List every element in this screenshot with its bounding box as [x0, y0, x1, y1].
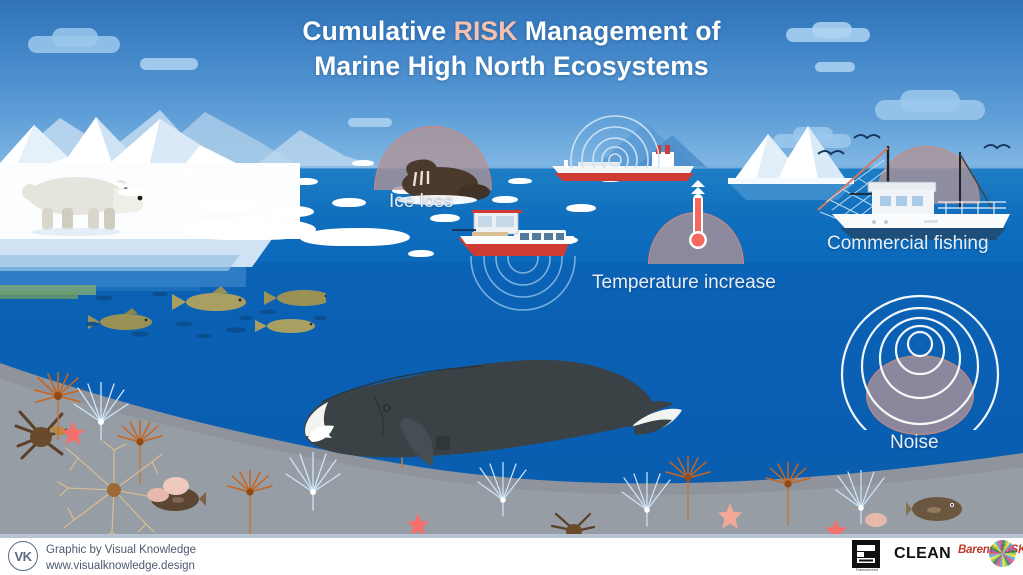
flatfish — [906, 492, 968, 526]
credit-line-2: www.visualknowledge.design — [46, 558, 196, 574]
ice-floe — [118, 188, 148, 196]
sponge — [864, 510, 888, 528]
sponge — [162, 474, 190, 496]
seabirds — [806, 126, 1023, 186]
ice-floe — [176, 168, 202, 174]
fram-centre-logo — [852, 540, 880, 568]
sea-pen — [470, 462, 536, 518]
cod-fish — [88, 308, 152, 330]
stressor-label-commercial-fishing: Commercial fishing — [827, 233, 989, 255]
cod-fish — [255, 319, 315, 333]
polar-bear — [18, 168, 153, 238]
barentsrisk-globe-icon — [989, 540, 1016, 567]
credit-line-1: Graphic by Visual Knowledge — [46, 542, 196, 558]
sea-pen — [614, 472, 680, 528]
visual-knowledge-logo: VK — [8, 541, 38, 571]
ice-floe — [352, 160, 374, 166]
stressor-label-temperature: Temperature increase — [592, 272, 776, 294]
ice-floe — [408, 250, 434, 257]
sea-lily — [222, 470, 278, 536]
sea-pen — [66, 382, 136, 442]
cod-fish — [264, 290, 326, 306]
footer-divider — [0, 534, 1023, 538]
fram-centre-caption: Framsenteret — [846, 568, 888, 572]
cod-school — [86, 284, 326, 344]
thermometer-icon — [678, 180, 718, 260]
sea-lily — [760, 462, 816, 528]
ice-floe — [300, 228, 410, 246]
credit-text: Graphic by Visual Knowledge www.visualkn… — [46, 542, 196, 575]
stressor-label-ice-loss: Ice loss — [389, 191, 453, 213]
ice-floe — [268, 206, 314, 217]
starfish — [716, 502, 744, 530]
clean-logo: CLEAN — [894, 545, 951, 563]
ice-floe — [508, 178, 532, 184]
infographic-poster: Cumulative RISK Management of Marine Hig… — [0, 0, 1023, 575]
ship-noise-waves — [570, 108, 660, 168]
ice-floe — [292, 178, 318, 185]
boat-noise-waves — [468, 256, 578, 316]
bowhead-whale — [282, 340, 682, 470]
cod-fish — [172, 286, 246, 311]
starfish — [406, 512, 430, 536]
ice-floe — [196, 198, 258, 212]
ice-floe — [332, 198, 366, 207]
ice-floe — [184, 218, 316, 240]
footer-bar: VK Graphic by Visual Knowledge www.visua… — [0, 534, 1023, 575]
